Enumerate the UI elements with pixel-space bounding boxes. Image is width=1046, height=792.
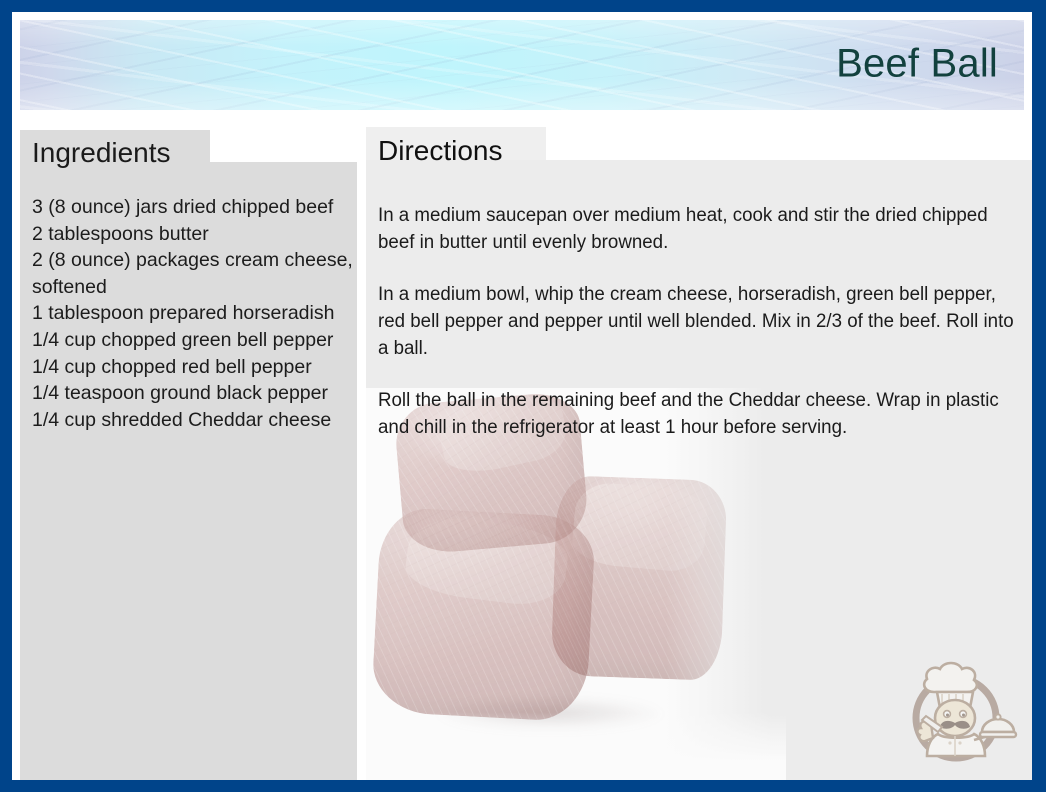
directions-heading: Directions (378, 135, 502, 167)
cloche-tray (980, 732, 1016, 737)
chef-jacket (927, 734, 985, 756)
cloche-knob (995, 714, 1000, 719)
recipe-card: Beef Ball Ingredients 3 (8 ounce) jars d… (0, 0, 1046, 792)
page-title: Beef Ball (836, 42, 998, 87)
beef-cube-left (371, 507, 596, 723)
chef-logo (894, 648, 1018, 772)
directions-step: In a medium bowl, whip the cream cheese,… (378, 281, 1014, 362)
ingredients-list: 3 (8 ounce) jars dried chipped beef 2 ta… (32, 194, 357, 433)
header-banner: Beef Ball (20, 20, 1024, 110)
beef-cubes-photo (366, 388, 786, 782)
directions-steps: In a medium saucepan over medium heat, c… (378, 202, 1014, 441)
recipe-card-inner: Beef Ball Ingredients 3 (8 ounce) jars d… (12, 12, 1032, 780)
ingredients-heading: Ingredients (32, 137, 171, 169)
chef-logo-body (917, 663, 1016, 756)
chef-pupil-right (962, 714, 965, 717)
chef-jacket-button (948, 741, 951, 744)
chef-hat (924, 663, 977, 692)
chef-logo-icon (894, 648, 1018, 772)
directions-step: Roll the ball in the remaining beef and … (378, 387, 1014, 441)
beef-photo-bottom-fade (366, 712, 786, 782)
beef-grain-texture (371, 507, 596, 723)
chef-jacket-button (958, 741, 961, 744)
chef-pupil-left (946, 714, 949, 717)
beef-cubes-photo-inner (366, 388, 786, 782)
cloche-dome (982, 719, 1014, 732)
chef-head (935, 700, 975, 736)
directions-step: In a medium saucepan over medium heat, c… (378, 202, 1014, 256)
